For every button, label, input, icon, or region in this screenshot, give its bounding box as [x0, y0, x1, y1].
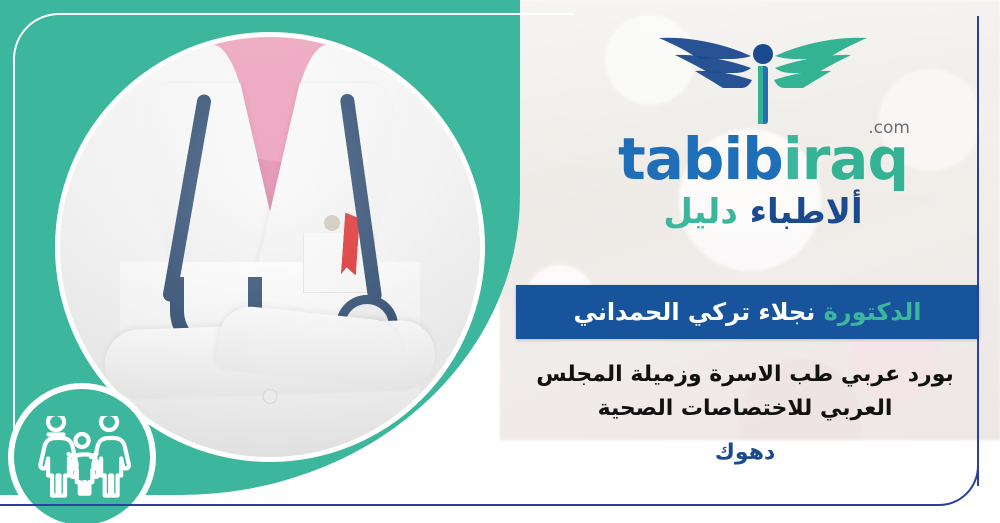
family-icon-badge [14, 389, 150, 523]
logo-tagline-blue: ألاطباء [750, 192, 863, 232]
frame-corner-bottom-right [915, 443, 979, 506]
doctor-name-text: الدكتورة نجلاء تركي الحمداني [574, 298, 922, 326]
frame-line-bottom [0, 504, 940, 506]
brand-logo[interactable]: tabibiraq .com ألاطباء دليل [608, 22, 918, 231]
logo-wordmark: tabibiraq .com [608, 130, 918, 188]
logo-tagline: ألاطباء دليل [608, 194, 918, 231]
doctor-profile-card: tabibiraq .com ألاطباء دليل الدكتورة نجل… [0, 0, 1000, 523]
doctor-name-value: نجلاء تركي الحمداني [574, 298, 816, 326]
winged-caduceus-logo-icon [613, 22, 913, 130]
logo-word-divider: i [783, 125, 802, 193]
family-icon [32, 416, 132, 498]
doctor-specialty-line2: العربي للاختصاصات الصحية [520, 392, 970, 426]
logo-tld: .com [868, 120, 910, 137]
doctor-info-block: بورد عربي طب الاسرة وزميلة المجلس العربي… [520, 358, 970, 465]
doctor-city: دهوك [520, 440, 970, 465]
family-icon-ring [8, 383, 156, 523]
doctor-photo [60, 37, 480, 457]
logo-tagline-green: دليل [663, 192, 737, 232]
logo-word-tabib: tabib [618, 125, 783, 193]
doctor-name-prefix: الدكتورة [824, 298, 922, 326]
frame-line-right [977, 16, 979, 486]
doctor-specialty-line1: بورد عربي طب الاسرة وزميلة المجلس [520, 358, 970, 392]
doctor-name-banner: الدكتورة نجلاء تركي الحمداني [516, 285, 979, 339]
